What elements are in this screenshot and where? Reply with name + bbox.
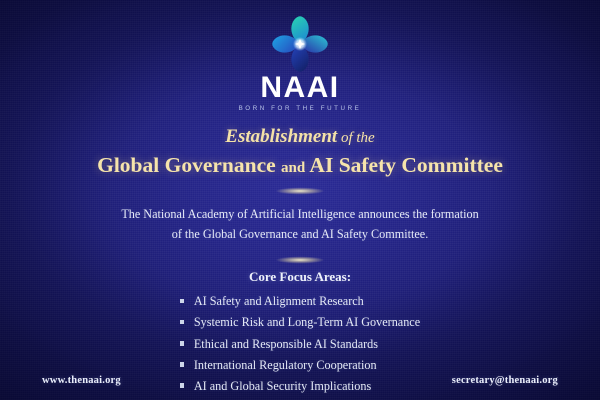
divider-glow (276, 187, 324, 194)
list-item: Systemic Risk and Long-Term AI Governanc… (180, 315, 420, 330)
naai-logo: NAAI BORN FOR THE FUTURE (239, 16, 362, 112)
title-line-2-conjunction: and (281, 160, 305, 176)
naai-tagline: BORN FOR THE FUTURE (239, 106, 362, 112)
list-item: Ethical and Responsible AI Standards (180, 337, 420, 352)
naai-wordmark: NAAI (260, 73, 339, 103)
announcement-line-1: The National Academy of Artificial Intel… (121, 207, 478, 221)
title-line-1: Establishment of the (225, 126, 374, 148)
website-link[interactable]: www.thenaai.org (42, 375, 121, 386)
announcement-line-2: of the Global Governance and AI Safety C… (172, 227, 429, 241)
poster-footer: www.thenaai.org secretary@thenaai.org (0, 375, 600, 386)
divider-glow (276, 257, 324, 264)
list-item: AI Safety and Alignment Research (180, 294, 420, 309)
list-item: International Regulatory Cooperation (180, 358, 420, 373)
title-line-1-lead: Establishment (225, 126, 337, 147)
naai-four-petal-mark (263, 16, 337, 72)
title-line-2-part1: Global Governance (97, 153, 281, 177)
title-line-1-tail: of the (337, 130, 375, 146)
email-link[interactable]: secretary@thenaai.org (452, 375, 558, 386)
announcement-text: The National Academy of Artificial Intel… (90, 205, 510, 245)
focus-areas-heading: Core Focus Areas: (249, 269, 351, 285)
announcement-poster: NAAI BORN FOR THE FUTURE Establishment o… (0, 0, 600, 400)
title-line-2-part2: AI Safety Committee (305, 153, 503, 177)
title-line-2: Global Governance and AI Safety Committe… (97, 153, 503, 178)
